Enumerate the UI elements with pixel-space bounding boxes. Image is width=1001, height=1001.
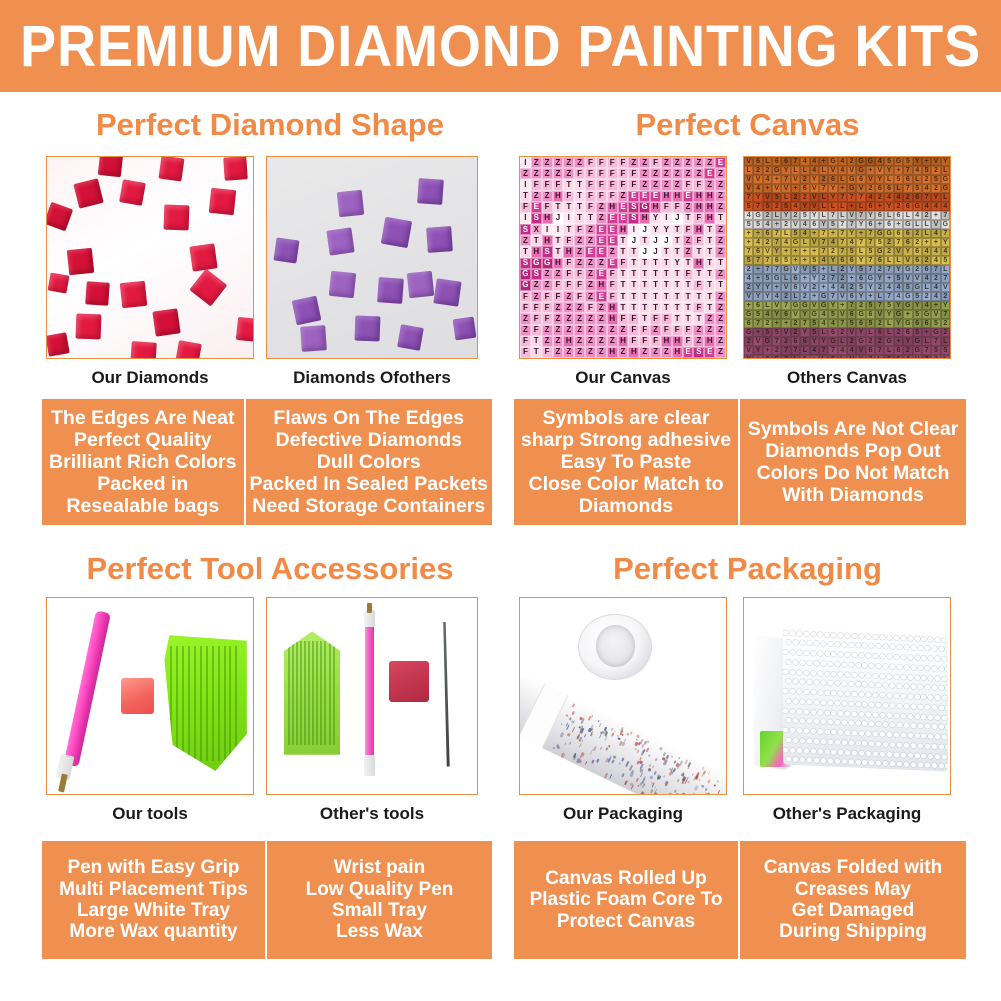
- canvas-symbol-cell: Z: [715, 269, 726, 280]
- photo-others-canvas: V6L66744+G42GG45G5Y+VYL22GYLL4LV4VG+VY+7…: [743, 156, 951, 359]
- canvas-symbol-cell: 6: [753, 157, 762, 166]
- canvas-symbol-cell: 4: [894, 283, 903, 292]
- canvas-symbol-cell: T: [618, 246, 629, 257]
- canvas-symbol-cell: G: [903, 292, 912, 301]
- canvas-symbol-cell: F: [520, 336, 531, 347]
- canvas-symbol-cell: 6: [894, 211, 903, 220]
- canvas-symbol-cell: T: [715, 213, 726, 224]
- canvas-symbol-cell: T: [553, 202, 564, 213]
- canvas-symbol-cell: G: [639, 202, 650, 213]
- canvas-symbol-cell: 5: [753, 310, 762, 319]
- canvas-symbol-cell: Y: [661, 224, 672, 235]
- canvas-symbol-cell: F: [607, 191, 618, 202]
- canvas-symbol-cell: 5: [941, 256, 950, 265]
- canvas-symbol-cell: T: [628, 291, 639, 302]
- canvas-symbol-cell: G: [922, 310, 931, 319]
- canvas-symbol-cell: G: [542, 258, 553, 269]
- canvas-symbol-cell: T: [650, 302, 661, 313]
- canvas-symbol-cell: V: [847, 211, 856, 220]
- comparison-others-tools: Wrist pain Low Quality Pen Small Tray Le…: [267, 841, 492, 959]
- canvas-symbol-cell: T: [683, 280, 694, 291]
- canvas-symbol-cell: 4: [819, 256, 828, 265]
- canvas-symbol-cell: F: [542, 313, 553, 324]
- canvas-symbol-cell: I: [661, 213, 672, 224]
- canvas-symbol-cell: H: [553, 191, 564, 202]
- canvas-symbol-cell: E: [618, 202, 629, 213]
- canvas-symbol-cell: Z: [672, 157, 683, 168]
- canvas-symbol-cell: 4: [828, 238, 837, 247]
- canvas-symbol-cell: Y: [913, 157, 922, 166]
- canvas-symbol-cell: +: [753, 355, 762, 359]
- canvas-symbol-cell: T: [563, 202, 574, 213]
- canvas-symbol-cell: E: [607, 213, 618, 224]
- canvas-symbol-cell: F: [585, 168, 596, 179]
- canvas-symbol-cell: 2: [884, 247, 893, 256]
- canvas-symbol-cell: Y: [847, 229, 856, 238]
- canvas-symbol-cell: T: [639, 258, 650, 269]
- canvas-symbol-cell: 4: [931, 256, 940, 265]
- canvas-symbol-cell: L: [819, 202, 828, 211]
- canvas-symbol-cell: 5: [922, 166, 931, 175]
- canvas-symbol-cell: Z: [520, 313, 531, 324]
- canvas-symbol-cell: 6: [791, 283, 800, 292]
- canvas-symbol-cell: V: [753, 337, 762, 346]
- canvas-symbol-cell: F: [520, 202, 531, 213]
- canvas-symbol-cell: V: [856, 184, 865, 193]
- canvas-symbol-cell: +: [800, 274, 809, 283]
- canvas-symbol-cell: 6: [856, 274, 865, 283]
- canvas-symbol-cell: +: [744, 238, 753, 247]
- canvas-symbol-cell: 4: [810, 346, 819, 355]
- canvas-symbol-cell: 4: [791, 202, 800, 211]
- canvas-symbol-cell: 2: [866, 355, 875, 359]
- canvas-symbol-cell: F: [531, 325, 542, 336]
- canvas-symbol-cell: +: [744, 229, 753, 238]
- canvas-symbol-cell: F: [693, 302, 704, 313]
- section-heading-canvas: Perfect Canvas: [510, 107, 985, 143]
- canvas-symbol-cell: Y: [856, 355, 865, 359]
- canvas-symbol-cell: Y: [819, 337, 828, 346]
- canvas-symbol-cell: Z: [585, 258, 596, 269]
- canvas-symbol-cell: 7: [819, 229, 828, 238]
- canvas-symbol-cell: Z: [704, 157, 715, 168]
- canvas-symbol-cell: Y: [875, 175, 884, 184]
- canvas-symbol-cell: Z: [661, 179, 672, 190]
- canvas-symbol-cell: 5: [931, 319, 940, 328]
- canvas-symbol-cell: L: [819, 211, 828, 220]
- comparison-line: Symbols Are Not Clear: [748, 418, 959, 440]
- canvas-symbol-cell: 2: [744, 265, 753, 274]
- canvas-symbol-cell: V: [828, 166, 837, 175]
- comparison-others-packaging: Canvas Folded with Creases May Get Damag…: [740, 841, 966, 959]
- diamond-pen-icon: [64, 610, 112, 767]
- canvas-symbol-cell: 5: [941, 346, 950, 355]
- canvas-symbol-cell: 2: [875, 337, 884, 346]
- comparison-line: More Wax quantity: [69, 921, 237, 942]
- canvas-symbol-cell: G: [520, 280, 531, 291]
- canvas-symbol-cell: Z: [618, 347, 629, 358]
- canvas-symbol-cell: Z: [596, 347, 607, 358]
- canvas-symbol-cell: Z: [704, 325, 715, 336]
- canvas-symbol-cell: Z: [553, 325, 564, 336]
- canvas-symbol-cell: F: [563, 191, 574, 202]
- canvas-symbol-cell: 7: [838, 220, 847, 229]
- comparison-line: Canvas Rolled Up: [545, 868, 707, 889]
- canvas-symbol-cell: T: [672, 246, 683, 257]
- diamond-tray-icon: [164, 635, 246, 772]
- diamond-square-icon: [73, 178, 103, 208]
- canvas-symbol-cell: F: [618, 168, 629, 179]
- canvas-symbol-cell: V: [772, 301, 781, 310]
- canvas-symbol-cell: 5: [894, 274, 903, 283]
- canvas-symbol-cell: G: [884, 337, 893, 346]
- canvas-symbol-cell: 2: [828, 247, 837, 256]
- canvas-symbol-cell: T: [672, 224, 683, 235]
- canvas-symbol-cell: +: [753, 328, 762, 337]
- canvas-symbol-cell: Z: [574, 302, 585, 313]
- canvas-symbol-cell: 4: [744, 274, 753, 283]
- canvas-symbol-cell: 5: [772, 328, 781, 337]
- canvas-symbol-cell: I: [542, 224, 553, 235]
- canvas-symbol-cell: I: [553, 224, 564, 235]
- canvas-symbol-cell: 4: [772, 292, 781, 301]
- canvas-symbol-cell: 6: [772, 256, 781, 265]
- canvas-symbol-cell: F: [693, 213, 704, 224]
- canvas-symbol-cell: Z: [715, 313, 726, 324]
- canvas-symbol-cell: V: [838, 310, 847, 319]
- canvas-symbol-cell: Y: [856, 256, 865, 265]
- canvas-symbol-cell: 7: [753, 202, 762, 211]
- diamond-square-icon: [355, 315, 381, 340]
- canvas-symbol-cell: T: [531, 235, 542, 246]
- canvas-symbol-cell: L: [781, 274, 790, 283]
- canvas-symbol-cell: +: [866, 292, 875, 301]
- canvas-symbol-cell: Z: [542, 280, 553, 291]
- canvas-symbol-cell: G: [856, 166, 865, 175]
- canvas-symbol-cell: H: [563, 336, 574, 347]
- comparison-box-packaging: Canvas Rolled Up Plastic Foam Core To Pr…: [514, 841, 966, 959]
- canvas-symbol-cell: G: [520, 269, 531, 280]
- canvas-symbol-cell: V: [800, 265, 809, 274]
- canvas-symbol-cell: 6: [791, 274, 800, 283]
- canvas-symbol-cell: 7: [753, 319, 762, 328]
- canvas-symbol-cell: 6: [800, 184, 809, 193]
- comparison-line: Diamonds Pop Out: [765, 440, 941, 462]
- canvas-symbol-cell: L: [791, 355, 800, 359]
- canvas-symbol-cell: 4: [894, 193, 903, 202]
- canvas-symbol-cell: H: [693, 202, 704, 213]
- canvas-symbol-cell: T: [661, 269, 672, 280]
- canvas-symbol-cell: 5: [763, 328, 772, 337]
- canvas-symbol-cell: L: [781, 229, 790, 238]
- canvas-symbol-cell: G: [531, 258, 542, 269]
- canvas-symbol-cell: 7: [856, 238, 865, 247]
- canvas-symbol-cell: F: [628, 336, 639, 347]
- diamond-square-icon: [120, 280, 147, 307]
- canvas-symbol-cell: 7: [763, 265, 772, 274]
- canvas-symbol-cell: H: [672, 191, 683, 202]
- canvas-symbol-cell: Z: [683, 246, 694, 257]
- canvas-symbol-cell: F: [542, 179, 553, 190]
- canvas-symbol-cell: 4: [875, 157, 884, 166]
- canvas-symbol-cell: F: [607, 168, 618, 179]
- canvas-symbol-cell: T: [618, 269, 629, 280]
- canvas-symbol-cell: L: [922, 283, 931, 292]
- comparison-ours-packaging: Canvas Rolled Up Plastic Foam Core To Pr…: [514, 841, 740, 959]
- diamond-square-icon: [417, 178, 444, 204]
- canvas-symbol-cell: 6: [894, 229, 903, 238]
- canvas-symbol-cell: F: [585, 191, 596, 202]
- canvas-symbol-cell: G: [753, 211, 762, 220]
- tweezer-icon: [439, 622, 450, 767]
- photo-our-packaging: [519, 597, 727, 795]
- canvas-symbol-cell: V: [810, 202, 819, 211]
- canvas-symbol-cell: V: [772, 184, 781, 193]
- canvas-symbol-cell: 5: [744, 256, 753, 265]
- canvas-symbol-cell: 7: [772, 337, 781, 346]
- canvas-symbol-cell: L: [941, 265, 950, 274]
- canvas-symbol-cell: 2: [781, 292, 790, 301]
- diamond-square-icon: [131, 341, 157, 359]
- canvas-symbol-cell: L: [922, 220, 931, 229]
- canvas-symbol-cell: 2: [941, 319, 950, 328]
- canvas-symbol-cell: V: [763, 193, 772, 202]
- canvas-symbol-cell: F: [542, 347, 553, 358]
- pen-needle-icon: [59, 774, 69, 793]
- canvas-symbol-cell: 2: [931, 355, 940, 359]
- canvas-symbol-cell: T: [618, 302, 629, 313]
- canvas-symbol-cell: Z: [585, 336, 596, 347]
- canvas-symbol-cell: Z: [563, 302, 574, 313]
- canvas-symbol-cell: Y: [810, 211, 819, 220]
- canvas-symbol-cell: F: [531, 313, 542, 324]
- canvas-symbol-cell: 2: [838, 274, 847, 283]
- diamond-square-icon: [190, 268, 227, 305]
- canvas-symbol-cell: V: [810, 301, 819, 310]
- canvas-symbol-cell: 7: [819, 247, 828, 256]
- canvas-symbol-cell: Y: [894, 265, 903, 274]
- canvas-symbol-cell: Y: [941, 301, 950, 310]
- canvas-symbol-cell: F: [542, 302, 553, 313]
- canvas-symbol-cell: Y: [894, 301, 903, 310]
- canvas-symbol-cell: Z: [596, 213, 607, 224]
- comparison-line: The Edges Are Neat: [51, 407, 235, 429]
- canvas-symbol-cell: V: [866, 175, 875, 184]
- canvas-symbol-cell: 5: [913, 328, 922, 337]
- canvas-symbol-cell: T: [683, 213, 694, 224]
- section-heading-packaging: Perfect Packaging: [510, 551, 985, 587]
- canvas-symbol-cell: 7: [828, 292, 837, 301]
- canvas-symbol-cell: G: [866, 157, 875, 166]
- comparison-others-diamond-shape: Flaws On The Edges Defective Diamonds Du…: [246, 399, 492, 525]
- comparison-line: Flaws On The Edges: [273, 407, 464, 429]
- canvas-symbol-cell: Z: [574, 325, 585, 336]
- canvas-symbol-cell: F: [650, 313, 661, 324]
- canvas-symbol-cell: +: [838, 301, 847, 310]
- canvas-symbol-cell: L: [884, 328, 893, 337]
- canvas-symbol-cell: 4: [903, 355, 912, 359]
- comparison-line: Diamonds: [579, 495, 673, 517]
- comparison-line: Wrist pain: [334, 857, 426, 878]
- canvas-symbol-cell: 7: [753, 256, 762, 265]
- canvas-symbol-cell: 5: [913, 310, 922, 319]
- canvas-symbol-cell: Y: [753, 346, 762, 355]
- canvas-symbol-cell: 6: [800, 337, 809, 346]
- comparison-line: Resealable bags: [66, 495, 219, 517]
- canvas-symbol-cell: 5: [875, 238, 884, 247]
- canvas-symbol-cell: T: [704, 246, 715, 257]
- canvas-symbol-cell: Z: [563, 291, 574, 302]
- diamond-square-icon: [97, 156, 122, 177]
- canvas-symbol-cell: T: [563, 179, 574, 190]
- canvas-symbol-cell: Y: [781, 166, 790, 175]
- canvas-symbol-cell: 4: [866, 193, 875, 202]
- canvas-symbol-cell: 6: [781, 310, 790, 319]
- canvas-symbol-cell: Z: [715, 224, 726, 235]
- canvas-symbol-cell: H: [596, 280, 607, 291]
- canvas-symbol-cell: 4: [922, 247, 931, 256]
- caption-others-tools: Other's tools: [266, 804, 478, 824]
- canvas-symbol-cell: Y: [763, 283, 772, 292]
- canvas-symbol-cell: L: [763, 157, 772, 166]
- canvas-symbol-cell: F: [672, 202, 683, 213]
- canvas-symbol-cell: 4: [819, 310, 828, 319]
- canvas-symbol-cell: 7: [838, 238, 847, 247]
- canvas-symbol-cell: H: [618, 336, 629, 347]
- canvas-symbol-cell: L: [819, 193, 828, 202]
- diamond-square-icon: [119, 179, 145, 205]
- canvas-symbol-cell: +: [772, 283, 781, 292]
- canvas-symbol-cell: G: [913, 283, 922, 292]
- canvas-symbol-cell: J: [672, 213, 683, 224]
- canvas-symbol-cell: 2: [894, 202, 903, 211]
- canvas-symbol-cell: 5: [884, 301, 893, 310]
- diamond-square-icon: [190, 244, 218, 272]
- canvas-symbol-cell: 4: [838, 346, 847, 355]
- canvas-symbol-cell: F: [628, 179, 639, 190]
- canvas-symbol-cell: V: [931, 310, 940, 319]
- canvas-symbol-cell: Z: [596, 258, 607, 269]
- canvas-symbol-cell: 4: [800, 220, 809, 229]
- canvas-symbol-cell: Z: [574, 258, 585, 269]
- canvas-symbol-cell: L: [941, 193, 950, 202]
- canvas-symbol-cell: T: [715, 280, 726, 291]
- caption-our-tools: Our tools: [46, 804, 254, 824]
- canvas-symbol-cell: L: [838, 175, 847, 184]
- canvas-symbol-cell: F: [618, 179, 629, 190]
- canvas-symbol-cell: 6: [753, 301, 762, 310]
- comparison-box-diamond-shape: The Edges Are Neat Perfect Quality Brill…: [42, 399, 492, 525]
- canvas-symbol-cell: T: [574, 202, 585, 213]
- canvas-symbol-cell: 7: [800, 319, 809, 328]
- canvas-symbol-cell: L: [941, 355, 950, 359]
- comparison-line: Multi Placement Tips: [59, 879, 248, 900]
- canvas-symbol-cell: 7: [828, 346, 837, 355]
- canvas-symbol-cell: 5: [866, 319, 875, 328]
- canvas-symbol-cell: Y: [828, 256, 837, 265]
- canvas-symbol-cell: 4: [847, 238, 856, 247]
- canvas-symbol-cell: Z: [542, 269, 553, 280]
- canvas-symbol-cell: T: [704, 302, 715, 313]
- canvas-symbol-cell: T: [574, 191, 585, 202]
- diamond-square-icon: [433, 278, 461, 306]
- canvas-symbol-cell: G: [791, 238, 800, 247]
- canvas-symbol-cell: L: [800, 238, 809, 247]
- comparison-line: Pen with Easy Grip: [67, 857, 239, 878]
- canvas-symbol-cell: L: [781, 193, 790, 202]
- canvas-symbol-cell: G: [913, 346, 922, 355]
- canvas-symbol-cell: G: [772, 274, 781, 283]
- canvas-symbol-cell: 6: [903, 328, 912, 337]
- canvas-symbol-cell: 4: [847, 346, 856, 355]
- canvas-symbol-cell: 5: [847, 319, 856, 328]
- canvas-symbol-cell: T: [683, 302, 694, 313]
- canvas-symbol-cell: G: [903, 319, 912, 328]
- canvas-symbol-cell: F: [563, 235, 574, 246]
- small-green-tray-pen-wax-tweezer-photo: [267, 598, 477, 794]
- canvas-symbol-cell: 2: [903, 346, 912, 355]
- canvas-symbol-cell: Z: [585, 325, 596, 336]
- canvas-symbol-cell: 6: [875, 184, 884, 193]
- canvas-symbol-cell: Z: [574, 347, 585, 358]
- canvas-symbol-cell: E: [531, 202, 542, 213]
- canvas-symbol-cell: F: [661, 325, 672, 336]
- canvas-symbol-cell: G: [828, 337, 837, 346]
- canvas-symbol-cell: Z: [618, 191, 629, 202]
- canvas-symbol-cell: F: [585, 179, 596, 190]
- canvas-symbol-cell: 7: [744, 247, 753, 256]
- canvas-symbol-cell: J: [639, 246, 650, 257]
- canvas-symbol-cell: G: [903, 220, 912, 229]
- canvas-symbol-cell: 6: [847, 256, 856, 265]
- canvas-symbol-cell: 2: [913, 229, 922, 238]
- canvas-symbol-cell: G: [847, 184, 856, 193]
- canvas-symbol-cell: H: [704, 191, 715, 202]
- canvas-symbol-cell: Y: [828, 193, 837, 202]
- canvas-symbol-cell: L: [763, 301, 772, 310]
- canvas-symbol-cell: 5: [744, 202, 753, 211]
- canvas-symbol-cell: V: [903, 256, 912, 265]
- comparison-line: Canvas Folded with: [764, 857, 942, 878]
- bubble-mailer-icon: [783, 628, 948, 772]
- canvas-symbol-cell: 6: [763, 229, 772, 238]
- canvas-symbol-cell: G: [894, 157, 903, 166]
- canvas-symbol-cell: L: [791, 166, 800, 175]
- canvas-symbol-cell: 7: [847, 301, 856, 310]
- canvas-symbol-cell: +: [810, 355, 819, 359]
- canvas-symbol-cell: 2: [903, 193, 912, 202]
- canvas-symbol-cell: L: [819, 166, 828, 175]
- diamond-square-icon: [153, 308, 181, 336]
- canvas-symbol-cell: S: [531, 213, 542, 224]
- canvas-symbol-cell: Y: [847, 265, 856, 274]
- diamond-square-icon: [48, 272, 69, 293]
- canvas-symbol-cell: Z: [553, 269, 564, 280]
- canvas-symbol-cell: 7: [847, 193, 856, 202]
- canvas-symbol-cell: 5: [913, 292, 922, 301]
- canvas-symbol-cell: F: [650, 157, 661, 168]
- canvas-symbol-cell: Y: [819, 220, 828, 229]
- diamond-square-icon: [159, 156, 185, 181]
- canvas-symbol-cell: 5: [866, 247, 875, 256]
- canvas-symbol-cell: H: [542, 213, 553, 224]
- canvas-symbol-cell: +: [781, 247, 790, 256]
- canvas-symbol-cell: +: [894, 220, 903, 229]
- canvas-symbol-cell: +: [763, 346, 772, 355]
- canvas-symbol-cell: T: [693, 246, 704, 257]
- canvas-symbol-cell: T: [683, 291, 694, 302]
- photo-others-tools: [266, 597, 478, 795]
